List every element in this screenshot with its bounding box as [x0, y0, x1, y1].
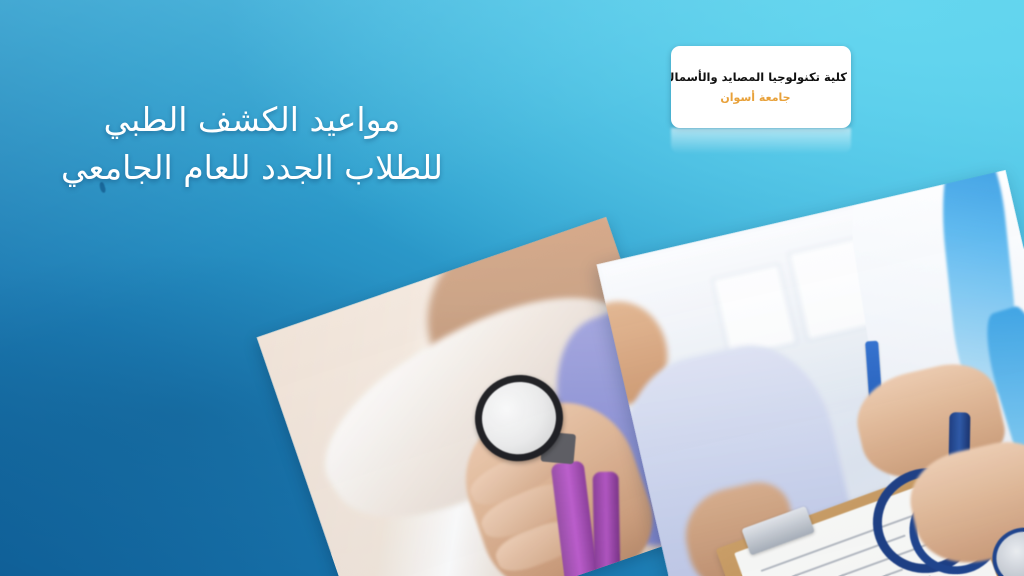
- university-name-label: جامعة أسوان: [671, 91, 847, 104]
- logo-plate-reflection: [671, 128, 851, 154]
- announcement-slide: مواعيد الكشف الطبي للطلاب الجدد للعام ال…: [0, 0, 1024, 576]
- title-line-1: مواعيد الكشف الطبي: [0, 96, 512, 144]
- university-logo-plate: كلية تكنولوجيا المصايد والأسماك جامعة أس…: [671, 46, 851, 128]
- page-title: مواعيد الكشف الطبي للطلاب الجدد للعام ال…: [0, 96, 512, 192]
- faculty-name-label: كلية تكنولوجيا المصايد والأسماك: [671, 70, 847, 84]
- logo-inner: كلية تكنولوجيا المصايد والأسماك جامعة أس…: [671, 46, 851, 128]
- logo-text-group: كلية تكنولوجيا المصايد والأسماك جامعة أس…: [671, 70, 851, 105]
- doctor-clipboard-photo: [596, 170, 1024, 576]
- background-speck: [98, 181, 106, 193]
- title-line-2: للطلاب الجدد للعام الجامعي: [0, 144, 512, 192]
- clipboard-photo-scene: [596, 170, 1024, 576]
- purple-stethoscope-tube: [593, 471, 621, 576]
